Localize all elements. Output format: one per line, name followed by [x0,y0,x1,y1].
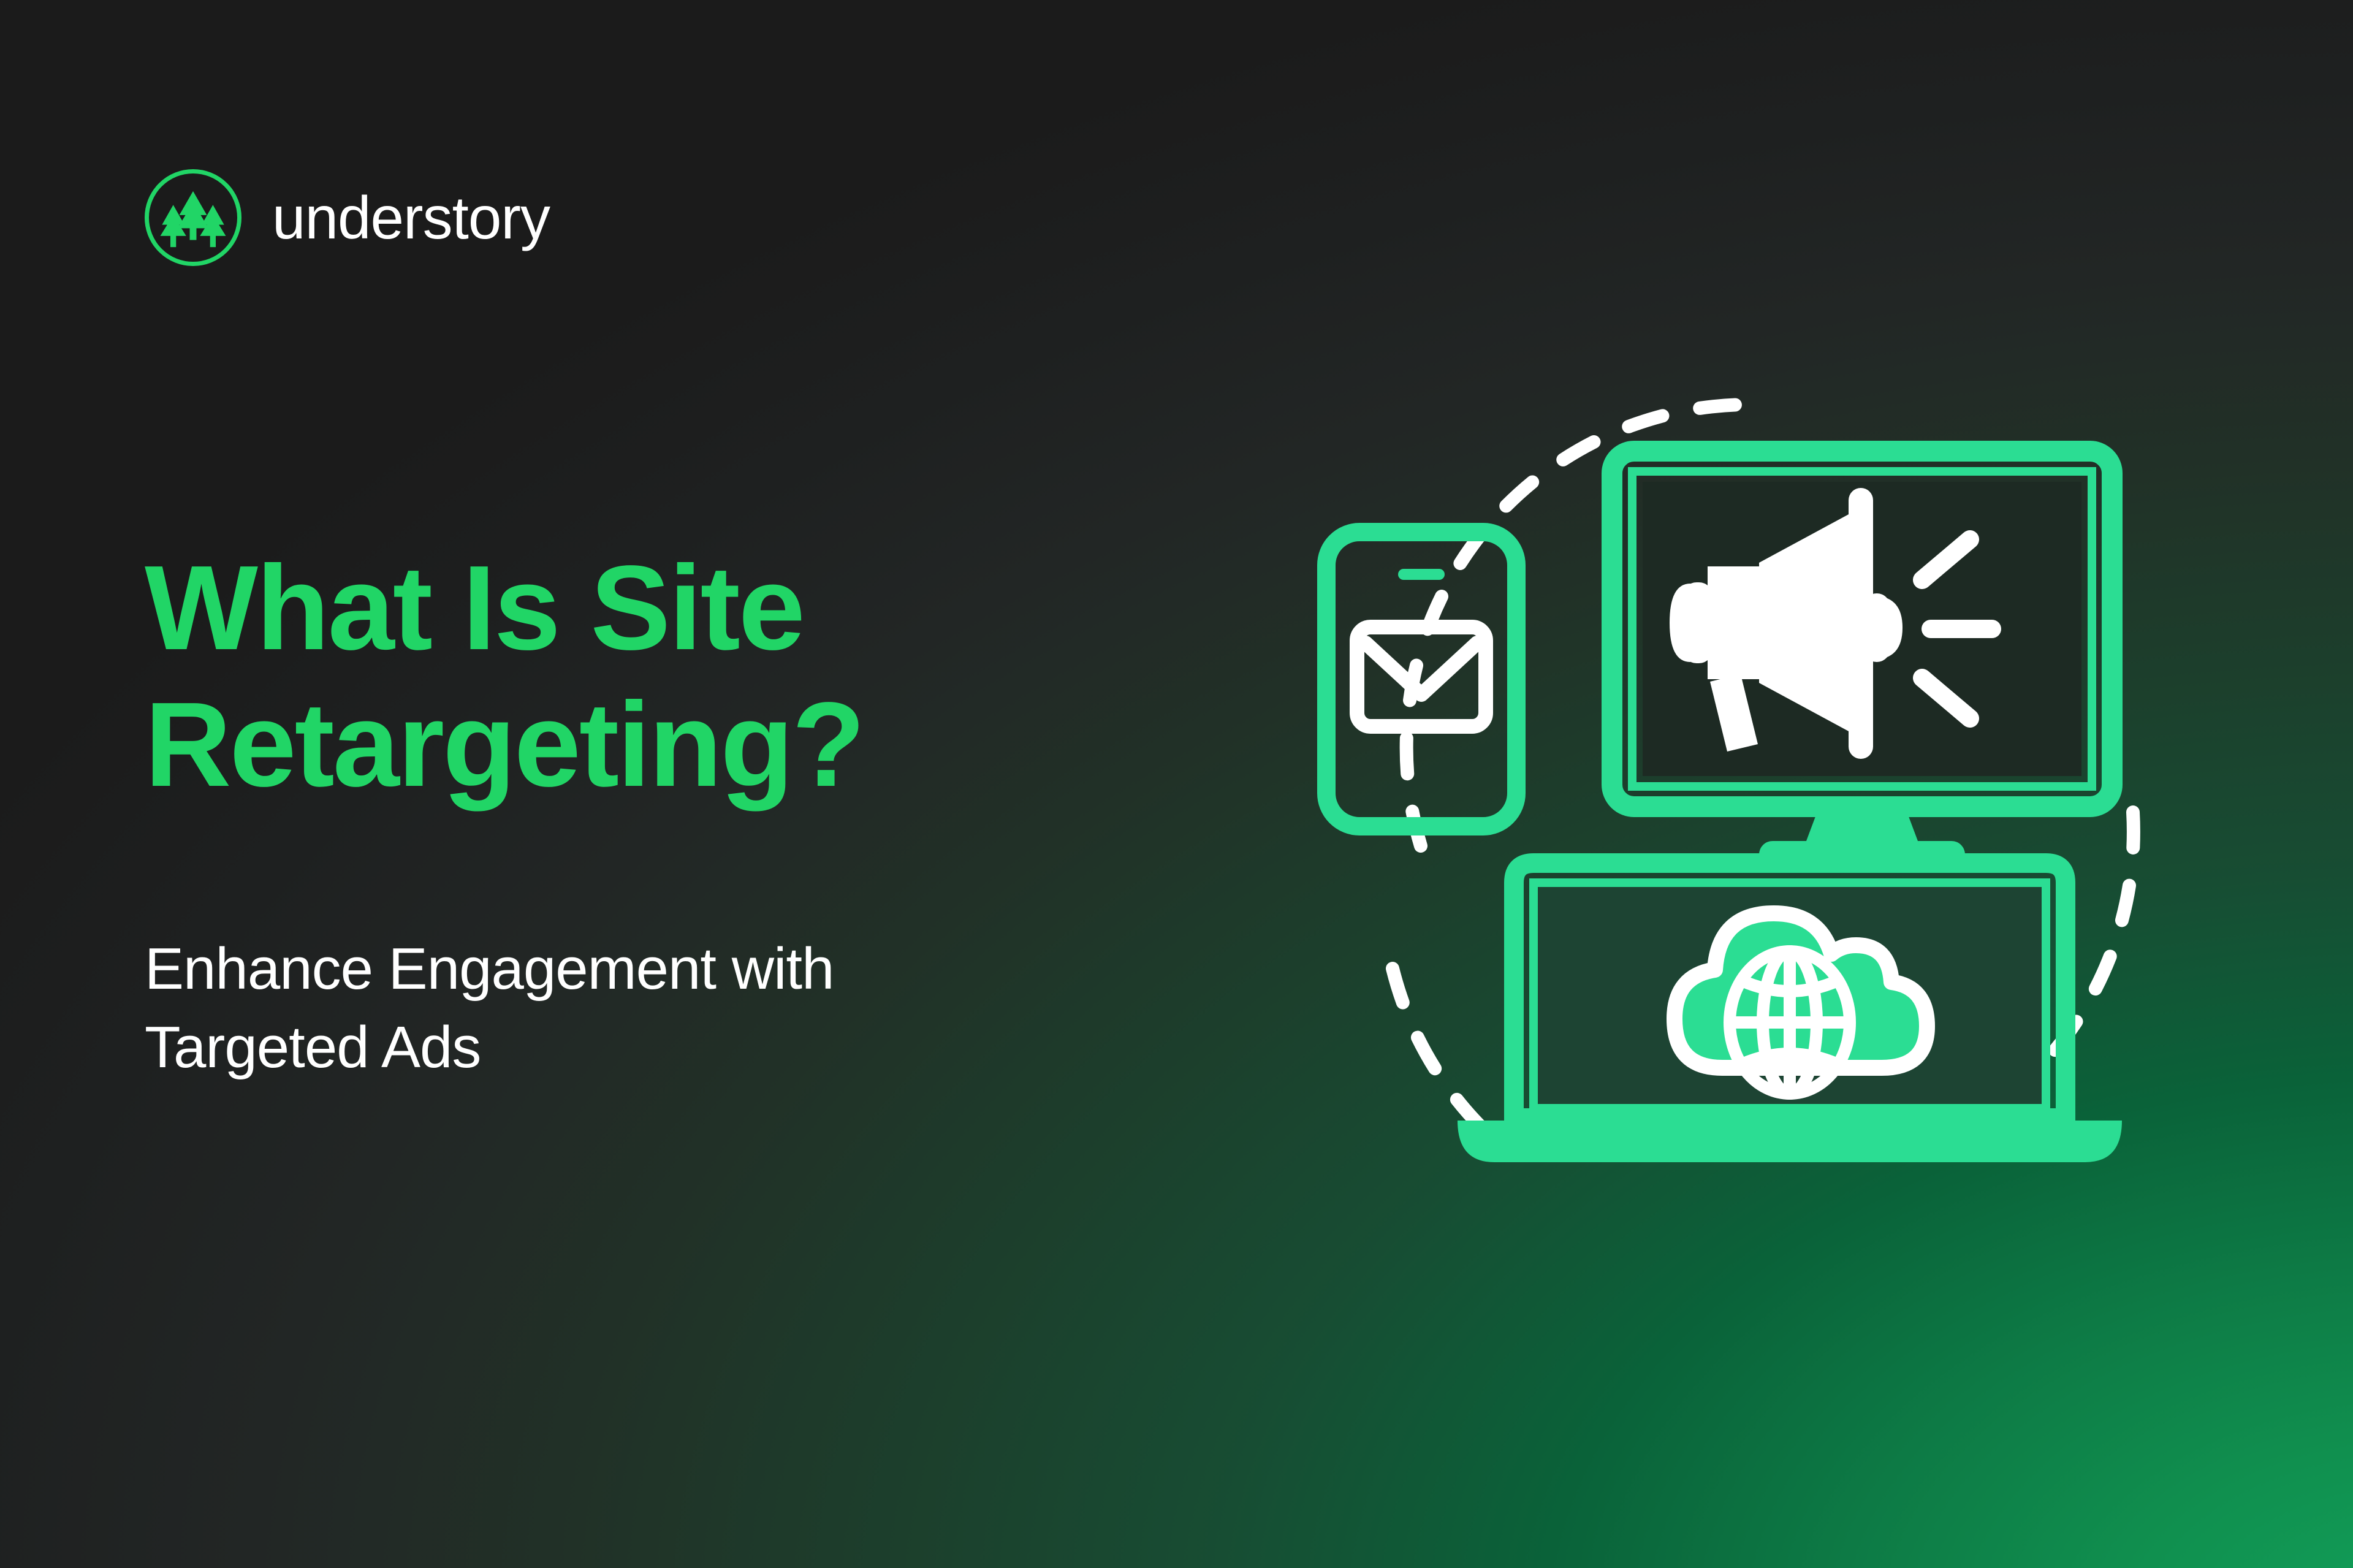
subhead-line-1: Enhance Engagement with [145,930,1223,1008]
envelope-icon [1357,627,1486,726]
globe-icon [1730,951,1850,1094]
brand-lockup[interactable]: understory [142,167,550,268]
monitor-stand-neck [1804,807,1920,846]
headline-line-2: Retargeting? [145,676,1223,813]
laptop-cloud-globe-icon [1458,863,2122,1162]
page-subtitle: Enhance Engagement with Targeted Ads [145,930,1223,1086]
bottom-left-arc [1393,969,1502,1146]
subhead-line-2: Targeted Ads [145,1008,1223,1087]
smartphone-email-icon [1326,532,1516,826]
laptop-base [1458,1121,2122,1162]
three-pine-trees-in-circle-icon [142,167,244,268]
smartphone-speaker [1398,569,1445,580]
hero-copy: What Is Site Retargeting? Enhance Engage… [145,539,1223,1086]
headline-line-1: What Is Site [145,539,1223,676]
desktop-megaphone-icon [1612,451,2112,868]
page-title: What Is Site Retargeting? [145,539,1223,813]
hero-illustration [1318,356,2249,1214]
brand-wordmark: understory [272,188,550,248]
